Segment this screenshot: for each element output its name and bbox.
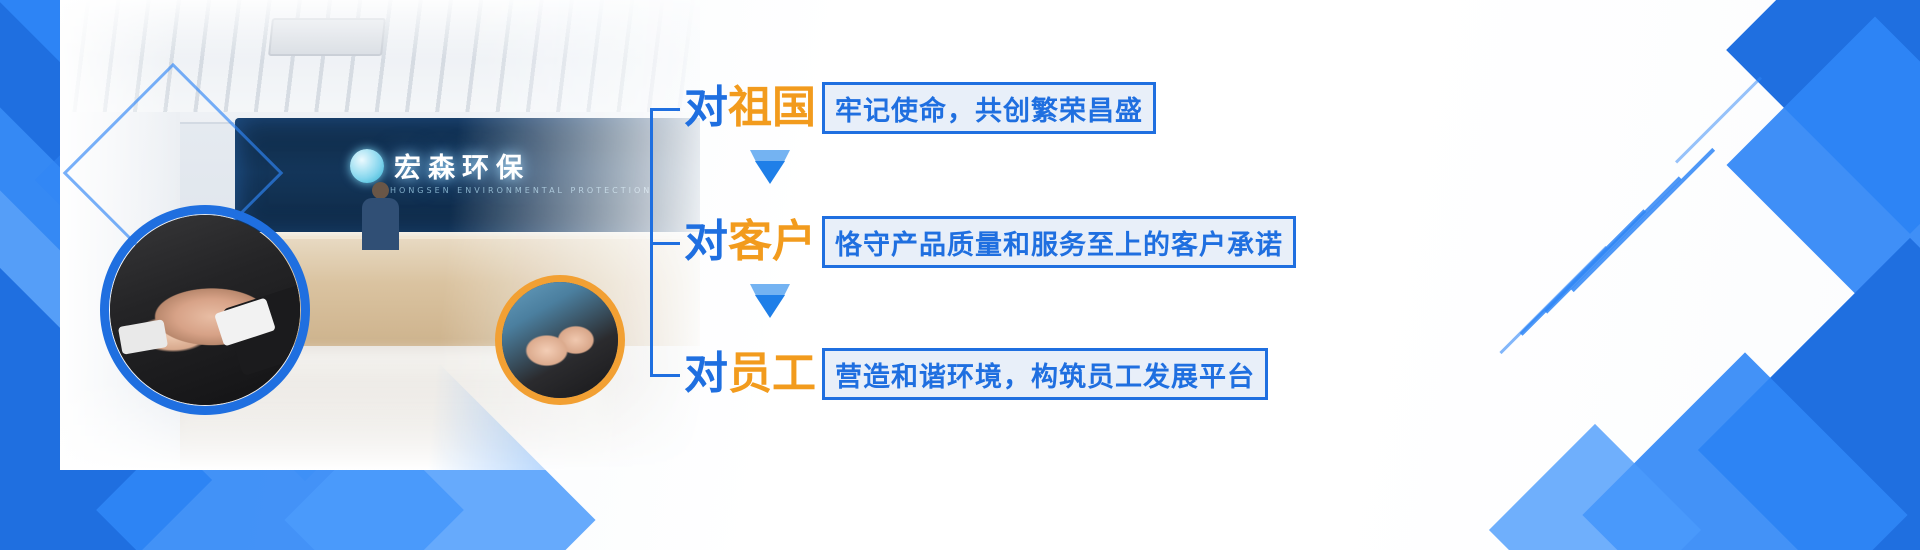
bracket-tick-2 — [650, 242, 680, 245]
value-lead-employee: 对员工 — [684, 352, 816, 396]
applause-circle-photo — [502, 282, 618, 398]
decor-streak-1 — [1571, 148, 1715, 292]
staff-head — [372, 182, 389, 199]
value-slogan-employee: 营造和谐环境，构筑员工发展平台 — [822, 348, 1268, 400]
value-slogan-customer: 恪守产品质量和服务至上的客户承诺 — [822, 216, 1296, 268]
bracket-tick-3 — [650, 374, 680, 377]
chevron-bottom — [755, 161, 785, 184]
value-slogan-country: 牢记使命，共创繁荣昌盛 — [822, 82, 1156, 134]
applause-image — [502, 282, 618, 398]
company-values-banner: 宏森环保 HONGSEN ENVIRONMENTAL PROTECTION — [0, 0, 1920, 550]
value-keyword: 客户 — [728, 216, 816, 267]
value-prefix: 对 — [684, 82, 728, 133]
chevron-bottom — [755, 295, 785, 318]
staff-body — [362, 198, 399, 250]
handshake-image — [110, 215, 300, 405]
value-row-customer: 对客户 恪守产品质量和服务至上的客户承诺 — [684, 214, 1296, 270]
decor-diamond-right-1 — [1726, 0, 1920, 234]
values-list: 对祖国 牢记使命，共创繁荣昌盛 对客户 恪守产品质量和服务至上的客户承诺 对员工… — [650, 72, 1370, 402]
value-keyword: 祖国 — [728, 82, 816, 133]
globe-leaf-icon — [350, 149, 384, 183]
logo-text: 宏森环保 — [394, 146, 530, 185]
value-row-employee: 对员工 营造和谐环境，构筑员工发展平台 — [684, 346, 1268, 402]
decor-diamond-right-3 — [1698, 238, 1920, 550]
value-prefix: 对 — [684, 216, 728, 267]
value-lead-country: 对祖国 — [684, 86, 816, 130]
value-lead-customer: 对客户 — [684, 220, 816, 264]
staff-figure — [360, 182, 400, 248]
photo-fade-top — [60, 0, 700, 60]
decor-streak-4 — [1499, 246, 1607, 354]
logo-subtitle: HONGSEN ENVIRONMENTAL PROTECTION — [390, 186, 652, 195]
value-row-country: 对祖国 牢记使命，共创繁荣昌盛 — [684, 80, 1156, 136]
chevron-top — [750, 150, 790, 161]
chevron-top — [750, 284, 790, 295]
decor-diamond-right-5 — [1489, 424, 1701, 550]
bracket-tick-1 — [650, 108, 680, 111]
decor-diamond-right-4 — [1582, 352, 1907, 550]
value-prefix: 对 — [684, 348, 728, 399]
decor-diamond-right-2 — [1727, 17, 1920, 314]
handshake-circle-photo — [110, 215, 300, 405]
shirt-cuff-left — [118, 319, 168, 355]
decor-streak-5 — [1675, 77, 1762, 164]
company-logo: 宏森环保 — [350, 146, 530, 185]
value-keyword: 员工 — [728, 348, 816, 399]
